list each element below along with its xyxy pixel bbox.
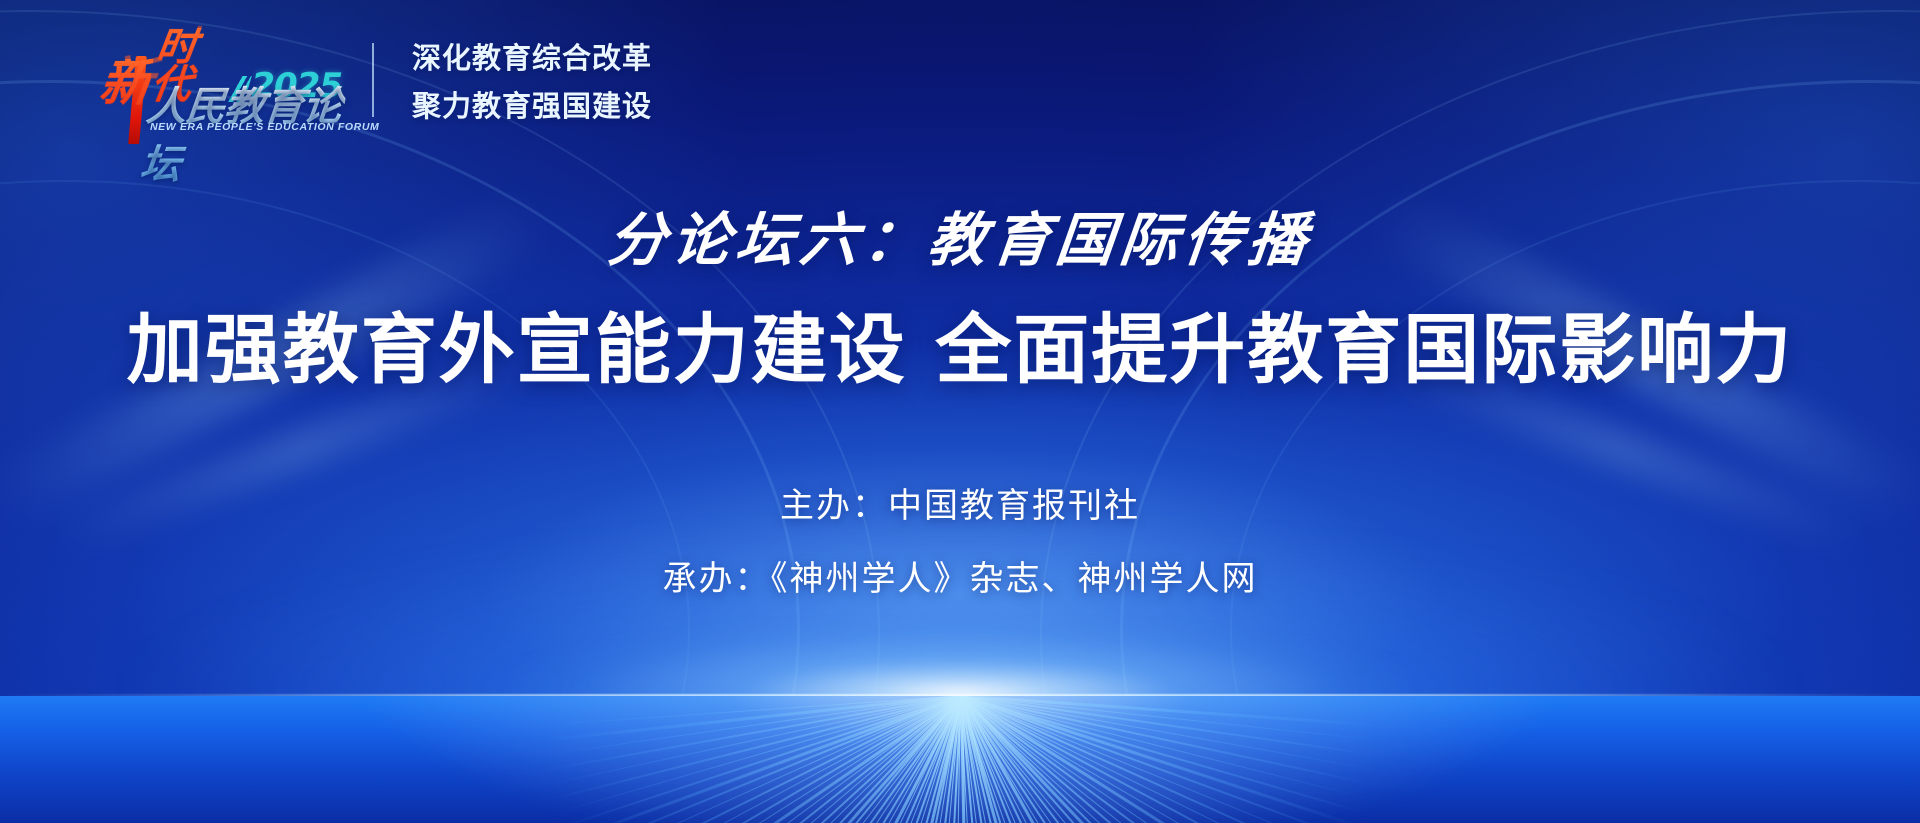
forum-subtitle: 分论坛六：教育国际传播 — [605, 212, 1315, 270]
page-title: 加强教育外宣能力建设 全面提升教育国际影响力 — [127, 308, 1793, 392]
conference-banner: 新 时代 2025 人民教育论坛 NEW ERA PEOPLE'S EDUCAT… — [0, 0, 1920, 823]
banner-content: 分论坛六：教育国际传播 加强教育外宣能力建设 全面提升教育国际影响力 主办：中国… — [0, 0, 1920, 600]
organizer-host: 主办：中国教育报刊社 — [780, 478, 1140, 527]
organizer-coordinator: 承办：《神州学人》杂志、神州学人网 — [663, 551, 1258, 600]
ground-perspective-rays — [0, 696, 1920, 823]
organizer-block: 主办：中国教育报刊社 承办：《神州学人》杂志、神州学人网 — [663, 478, 1258, 600]
